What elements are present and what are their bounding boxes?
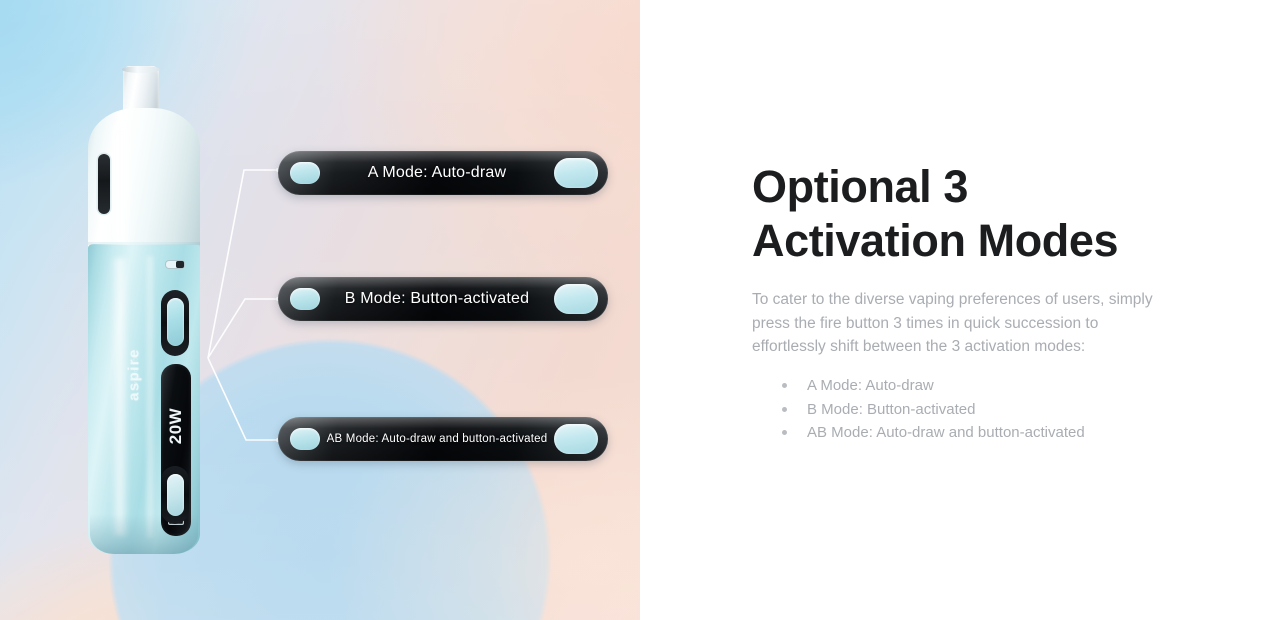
pill-left-accent-icon: [290, 428, 320, 450]
lower-button[interactable]: [167, 474, 184, 516]
airflow-slot: [98, 154, 110, 214]
bullet-icon: [782, 383, 787, 388]
mouthpiece-rim: [122, 66, 160, 73]
callout-pill-ab-label: AB Mode: Auto-draw and button-activated: [320, 433, 554, 445]
pill-left-accent-icon: [290, 288, 320, 310]
callout-pill-a-label: A Mode: Auto-draw: [320, 164, 554, 182]
list-item: AB Mode: Auto-draw and button-activated: [780, 421, 1250, 444]
callout-pill-a-mode[interactable]: A Mode: Auto-draw: [278, 151, 608, 195]
battery-indicator-icon: [165, 260, 185, 269]
pill-left-accent-icon: [290, 162, 320, 184]
list-item: A Mode: Auto-draw: [780, 374, 1250, 397]
page-title-line-2: Activation Modes: [752, 215, 1118, 266]
pill-right-accent-icon: [554, 424, 598, 454]
body-highlight-b: [145, 256, 155, 538]
cap-highlight: [109, 122, 135, 246]
description-paragraph: To cater to the diverse vaping preferenc…: [752, 288, 1176, 359]
callout-pill-b-mode[interactable]: B Mode: Button-activated: [278, 277, 608, 321]
callout-pill-b-label: B Mode: Button-activated: [320, 290, 554, 308]
product-feature-slide: aspire vivid 15i 20W 3.8Ω 0.8V A Mode: A…: [0, 0, 1280, 620]
callout-pill-ab-mode[interactable]: AB Mode: Auto-draw and button-activated: [278, 417, 608, 461]
page-title: Optional 3Activation Modes: [752, 160, 1232, 269]
list-item-label: AB Mode: Auto-draw and button-activated: [807, 424, 1085, 441]
pill-right-accent-icon: [554, 158, 598, 188]
brand-model-text: vivid 15i: [133, 325, 140, 415]
list-item: B Mode: Button-activated: [780, 398, 1250, 421]
bullet-icon: [782, 430, 787, 435]
device-seam: [88, 242, 200, 245]
text-content-panel: Optional 3Activation Modes To cater to t…: [640, 0, 1280, 620]
product-image-panel: aspire vivid 15i 20W 3.8Ω 0.8V A Mode: A…: [0, 0, 640, 620]
activation-modes-list: A Mode: Auto-draw B Mode: Button-activat…: [780, 374, 1250, 445]
page-title-line-1: Optional 3: [752, 161, 968, 212]
bullet-icon: [782, 407, 787, 412]
list-item-label: A Mode: Auto-draw: [807, 377, 934, 394]
fire-button[interactable]: [167, 298, 184, 346]
list-item-label: B Mode: Button-activated: [807, 401, 975, 418]
vape-device: aspire vivid 15i 20W 3.8Ω 0.8V: [85, 66, 205, 556]
pill-right-accent-icon: [554, 284, 598, 314]
